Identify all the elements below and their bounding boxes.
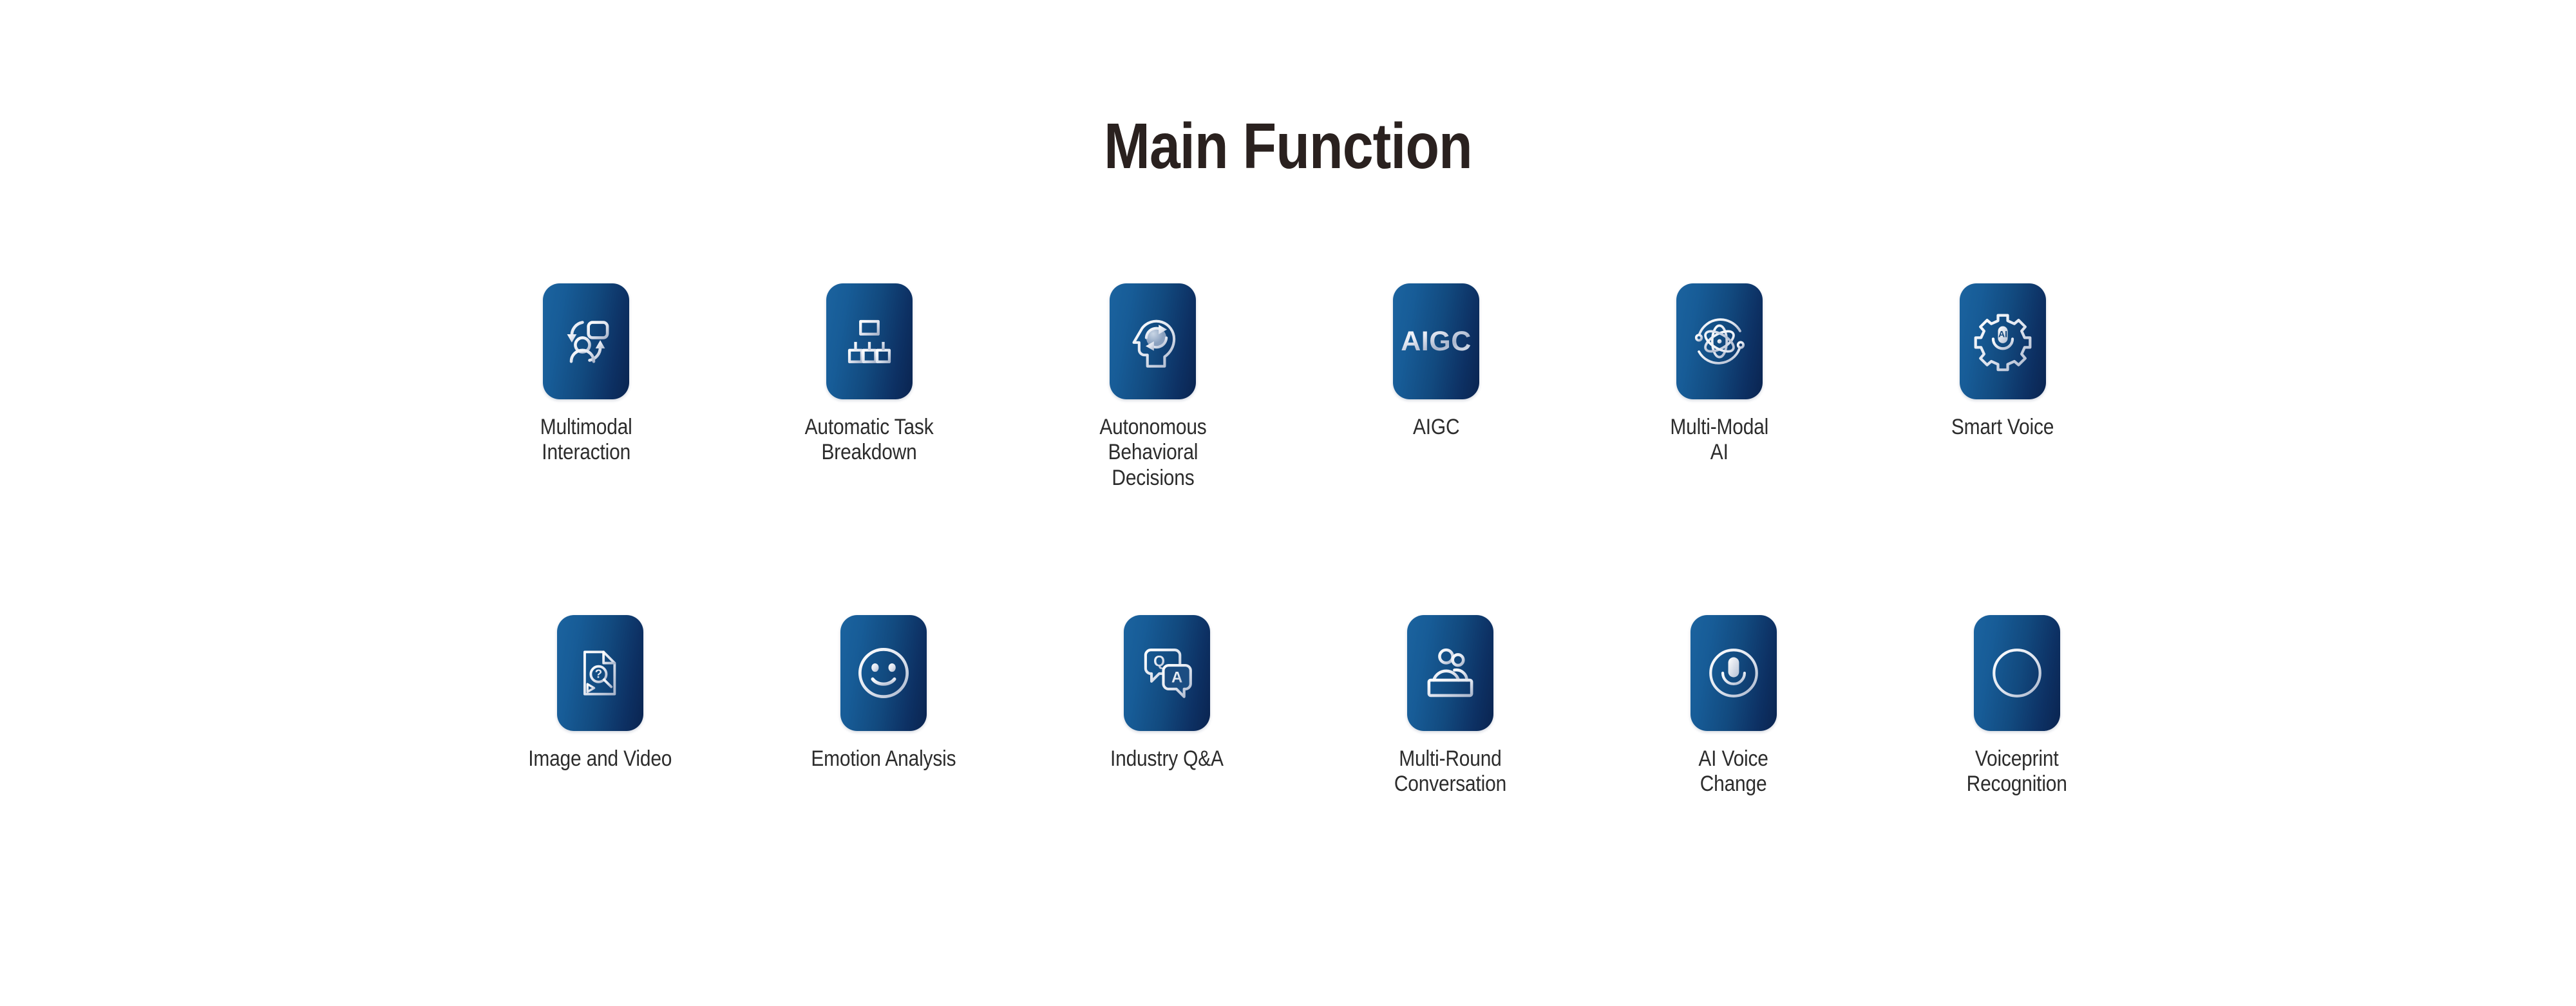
- atom-orbit-icon: [1689, 311, 1750, 372]
- feature-label: Voiceprint Recognition: [1967, 746, 2067, 797]
- tile-image-and-video[interactable]: ?: [557, 615, 643, 731]
- head-refresh-brain-icon: [1123, 312, 1182, 371]
- svg-text:?: ?: [595, 668, 603, 681]
- feature-label: AI Voice Change: [1699, 746, 1768, 797]
- feature-item-multimodal-interaction[interactable]: Multimodal Interaction: [444, 283, 728, 466]
- feature-item-multi-modal-ai[interactable]: Multi-Modal AI: [1578, 283, 1861, 466]
- qa-speech-bubbles-icon: Q A: [1137, 643, 1197, 703]
- feature-grid: Multimodal Interaction: [0, 0, 2576, 1006]
- tile-multimodal-interaction[interactable]: [543, 283, 629, 399]
- svg-text:AI: AI: [1998, 328, 2007, 339]
- tile-voiceprint-recognition[interactable]: [1974, 615, 2060, 731]
- person-screen-sync-icon: [556, 312, 616, 371]
- tile-multi-modal-ai[interactable]: [1676, 283, 1763, 399]
- feature-row-2: ? Image and Video: [444, 615, 2145, 797]
- main-function-page: Main Function: [0, 0, 2576, 1006]
- two-people-desk-icon: [1421, 643, 1480, 703]
- feature-label: Automatic Task Breakdown: [805, 415, 934, 466]
- feature-label: Emotion Analysis: [811, 746, 956, 772]
- feature-label: Smart Voice: [1951, 415, 2054, 440]
- feature-item-smart-voice[interactable]: AI Smart Voice: [1861, 283, 2145, 440]
- document-magnifier-play-icon: ?: [573, 645, 628, 701]
- feature-label: Industry Q&A: [1110, 746, 1224, 772]
- svg-text:A: A: [1171, 669, 1182, 687]
- feature-item-automatic-task-breakdown[interactable]: Automatic Task Breakdown: [728, 283, 1011, 466]
- smiley-face-icon: [853, 643, 914, 703]
- aigc-text-icon: AIGC: [1401, 326, 1472, 357]
- feature-label: Multi-Round Conversation: [1394, 746, 1506, 797]
- feature-item-autonomous-behavioral-decisions[interactable]: Autonomous Behavioral Decisions: [1011, 283, 1294, 491]
- waveform-circle-icon: [1987, 643, 2047, 703]
- feature-label: AIGC: [1413, 415, 1459, 440]
- feature-label: Multi-Modal AI: [1671, 415, 1769, 466]
- feature-item-ai-voice-change[interactable]: AI Voice Change: [1592, 615, 1875, 797]
- feature-item-image-and-video[interactable]: ? Image and Video: [459, 615, 742, 772]
- feature-item-industry-qa[interactable]: Q A Industry Q&A: [1025, 615, 1309, 772]
- feature-label: Autonomous Behavioral Decisions: [1099, 415, 1206, 491]
- tile-aigc[interactable]: AIGC: [1393, 283, 1479, 399]
- feature-item-voiceprint-recognition[interactable]: Voiceprint Recognition: [1875, 615, 2159, 797]
- gear-microphone-ai-icon: AI: [1973, 311, 2033, 372]
- feature-label: Image and Video: [528, 746, 672, 772]
- tile-autonomous-behavioral-decisions[interactable]: [1110, 283, 1196, 399]
- feature-label: Multimodal Interaction: [540, 415, 632, 466]
- tile-emotion-analysis[interactable]: [840, 615, 927, 731]
- feature-item-multi-round-conversation[interactable]: Multi-Round Conversation: [1309, 615, 1592, 797]
- tile-multi-round-conversation[interactable]: [1407, 615, 1493, 731]
- tile-automatic-task-breakdown[interactable]: [826, 283, 913, 399]
- tile-ai-voice-change[interactable]: [1690, 615, 1777, 731]
- hierarchy-tree-icon: [842, 314, 897, 369]
- tile-smart-voice[interactable]: AI: [1960, 283, 2046, 399]
- tile-industry-qa[interactable]: Q A: [1124, 615, 1210, 731]
- microphone-circle-icon: [1703, 643, 1764, 703]
- feature-item-emotion-analysis[interactable]: Emotion Analysis: [742, 615, 1025, 772]
- feature-item-aigc[interactable]: AIGC AIGC: [1294, 283, 1578, 440]
- feature-row-1: Multimodal Interaction: [444, 283, 2145, 491]
- svg-text:Q: Q: [1153, 652, 1165, 669]
